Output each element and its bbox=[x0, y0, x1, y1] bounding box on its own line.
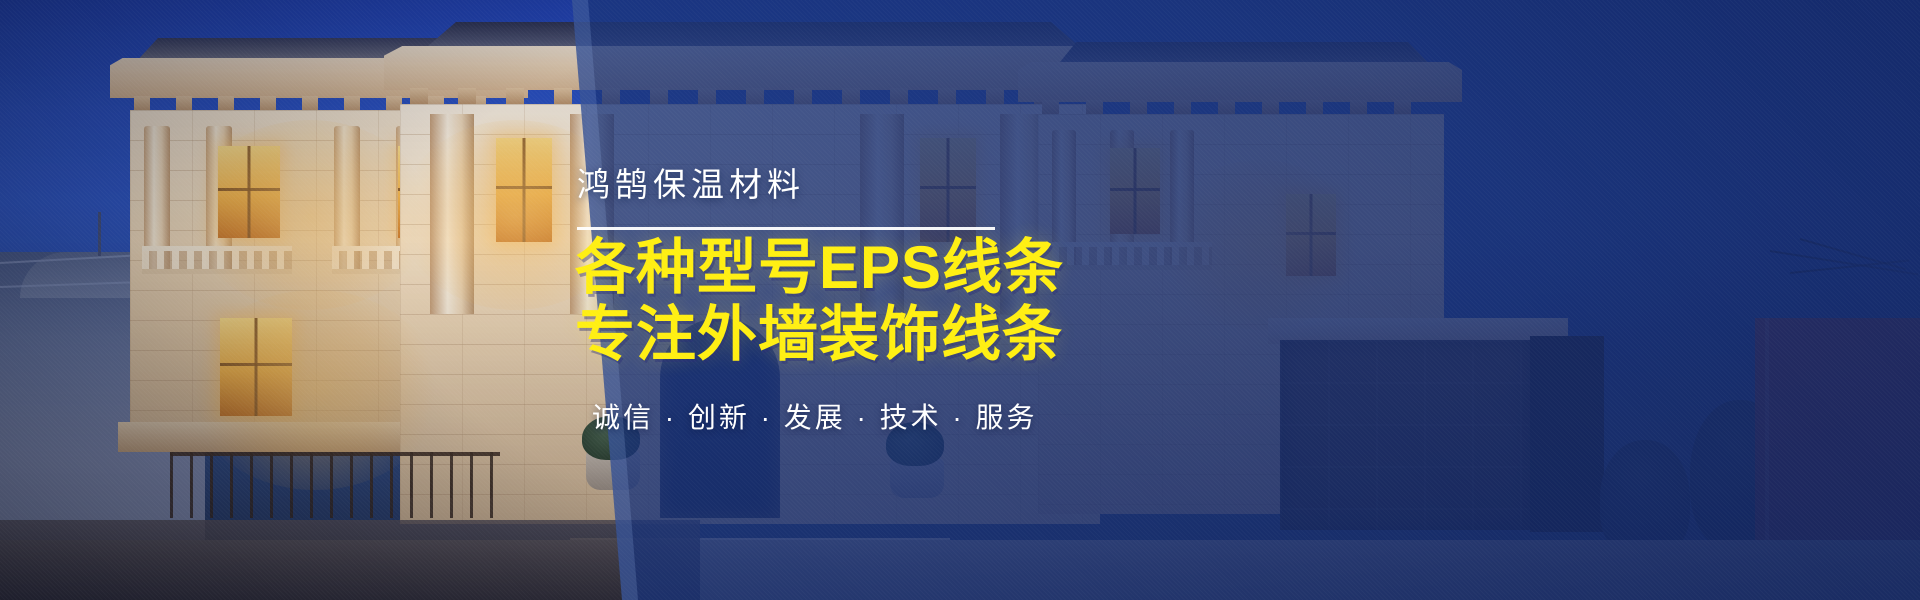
headline-line-2: 专注外墙装饰线条 bbox=[575, 301, 1064, 368]
banner-content: 鸿鹄保温材料 各种型号EPS线条 专注外墙装饰线条 诚信 · 创新 · 发展 ·… bbox=[572, 0, 1312, 600]
headline-line-1: 各种型号EPS线条 bbox=[575, 234, 1064, 301]
headline: 各种型号EPS线条 专注外墙装饰线条 bbox=[575, 234, 1064, 368]
tagline: 诚信 · 创新 · 发展 · 技术 · 服务 bbox=[592, 404, 1038, 432]
brand-name: 鸿鹄保温材料 bbox=[577, 168, 805, 201]
promo-banner: 鸿鹄保温材料 各种型号EPS线条 专注外墙装饰线条 诚信 · 创新 · 发展 ·… bbox=[0, 0, 1920, 600]
divider-rule bbox=[577, 227, 995, 230]
